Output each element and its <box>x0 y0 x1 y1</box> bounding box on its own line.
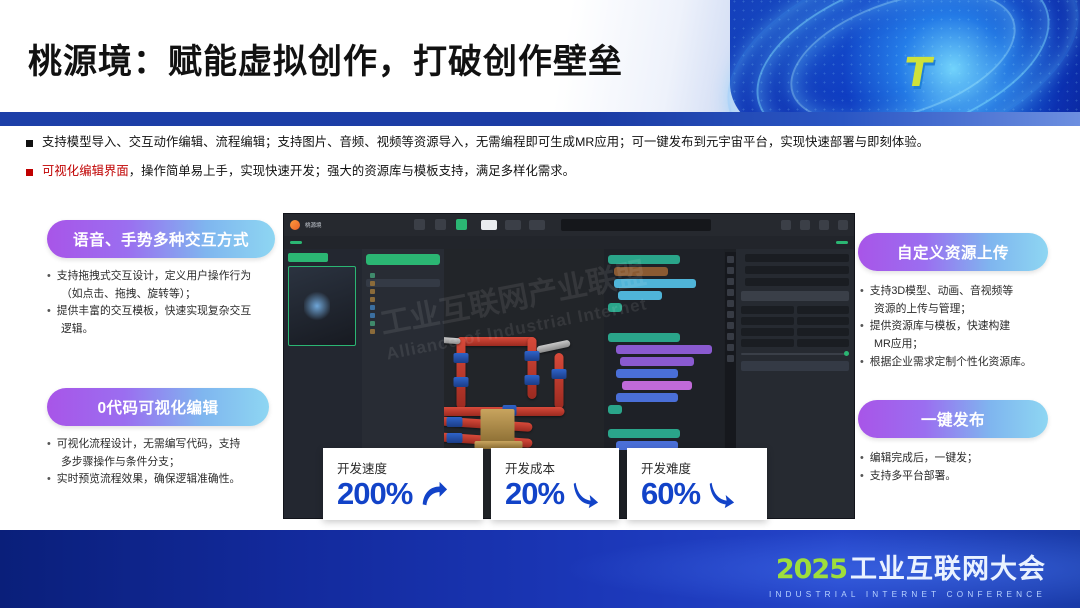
arrow-up-icon <box>418 479 448 509</box>
bullet-dot-icon: • <box>47 303 51 320</box>
prop-section-transform <box>741 291 849 301</box>
tree-node-item[interactable] <box>366 311 440 319</box>
scene-add-button[interactable] <box>288 253 328 262</box>
tree-node-item[interactable] <box>366 287 440 295</box>
feature-list-zero-code: • 可视化流程设计，无需编写代码，支持 多步骤操作与条件分支； • 实时预览流程… <box>47 436 285 489</box>
metric-label: 开发速度 <box>337 458 469 477</box>
script-block-event[interactable] <box>608 255 680 264</box>
tool-math-icon[interactable] <box>727 344 734 351</box>
feature-line: • 提供丰富的交互模板，快速实现复杂交互 <box>47 303 285 320</box>
tool-rotate-icon[interactable] <box>727 278 734 285</box>
script-block-event-2[interactable] <box>608 333 680 342</box>
feature-line: （如点击、拖拽、旋转等）； <box>47 286 285 303</box>
prop-grid-scale[interactable] <box>741 328 849 336</box>
prop-apply-button[interactable] <box>741 361 849 371</box>
pill-custom-resource-upload: 自定义资源上传 <box>858 233 1048 271</box>
feature-text: 实时预览流程效果，确保逻辑准确性。 <box>57 471 241 488</box>
refresh-icon[interactable] <box>505 220 521 230</box>
prop-rot-y[interactable] <box>797 317 850 325</box>
pipe-3d-model[interactable] <box>444 319 604 459</box>
script-block-value[interactable] <box>618 291 662 300</box>
feature-text: 资源的上传与管理； <box>874 301 971 318</box>
feature-line: • 可视化流程设计，无需编写代码，支持 <box>47 436 285 453</box>
bullet-text-1: 支持模型导入、交互动作编辑、流程编辑；支持图片、音频、视频等资源导入，无需编程即… <box>42 134 929 151</box>
tree-node-root[interactable] <box>366 271 440 279</box>
editor-window-controls <box>781 220 848 230</box>
tree-node-item[interactable] <box>366 303 440 311</box>
toolbar-settings-icon[interactable] <box>435 219 446 231</box>
prop-grid-rotation[interactable] <box>741 317 849 325</box>
feature-text: 可视化流程设计，无需编写代码，支持 <box>57 436 241 453</box>
prop-pos-x[interactable] <box>741 306 794 314</box>
bullet-text-2: 可视化编辑界面，操作简单易上手，实现快速开发；强大的资源库与模板支持，满足多样化… <box>42 163 575 180</box>
tool-event-icon[interactable] <box>727 311 734 318</box>
toolbar-flag-icon[interactable] <box>456 219 467 231</box>
metric-value-row: 200% <box>337 478 469 509</box>
pill-interaction-modes: 语音、手势多种交互方式 <box>47 220 275 258</box>
prop-row-name[interactable] <box>741 254 849 262</box>
feature-text: 逻辑。 <box>61 321 93 338</box>
conference-name-en: INDUSTRIAL INTERNET CONFERENCE <box>769 590 1046 599</box>
scene-thumbnail[interactable] <box>288 266 356 346</box>
bullet-item-2: 可视化编辑界面，操作简单易上手，实现快速开发；强大的资源库与模板支持，满足多样化… <box>26 163 1062 180</box>
page-title: 桃源境：赋能虚拟创作，打破创作壁垒 <box>28 34 623 83</box>
tree-node-selected[interactable] <box>366 279 440 287</box>
feature-list-resource: • 支持3D模型、动画、音视频等 资源的上传与管理； • 提供资源库与模板，快速… <box>860 283 1066 372</box>
metric-card-dev-cost: 开发成本 20% <box>491 448 619 520</box>
editor-subtoolbar <box>284 236 854 249</box>
header-accent-bar <box>0 112 1080 126</box>
feature-line: • 实时预览流程效果，确保逻辑准确性。 <box>47 471 285 488</box>
script-block-logic[interactable] <box>616 345 712 354</box>
bullet-highlight: 可视化编辑界面 <box>42 164 129 178</box>
script-block-logic-2[interactable] <box>620 357 694 366</box>
bullet-dot-icon: • <box>860 450 864 467</box>
play-button-icon[interactable] <box>481 220 497 230</box>
hierarchy-tree[interactable] <box>366 271 440 335</box>
tool-move-icon[interactable] <box>727 267 734 274</box>
feature-text: 多步骤操作与条件分支； <box>61 454 180 471</box>
tool-variable-icon[interactable] <box>727 322 734 329</box>
metric-label: 开发成本 <box>505 458 605 477</box>
bullet-item-1: 支持模型导入、交互动作编辑、流程编辑；支持图片、音频、视频等资源导入，无需编程即… <box>26 134 1062 151</box>
metric-value-row: 60% <box>641 478 753 509</box>
toolbar-undo-icon[interactable] <box>414 219 425 231</box>
prop-row-type[interactable] <box>741 266 849 274</box>
feature-line: • 提供资源库与模板，快速构建 <box>860 318 1066 335</box>
script-block-condition[interactable] <box>614 279 696 288</box>
tool-logic-icon[interactable] <box>727 333 734 340</box>
feature-text: 支持3D模型、动画、音视频等 <box>870 283 1013 300</box>
feature-line: • 根据企业需求定制个性化资源库。 <box>860 354 1066 371</box>
prop-grid-position[interactable] <box>741 306 849 314</box>
feature-line: 逻辑。 <box>47 321 285 338</box>
feature-text: 根据企业需求定制个性化资源库。 <box>870 354 1032 371</box>
bullet-dot-icon: • <box>47 268 51 285</box>
feature-line: 资源的上传与管理； <box>860 301 1066 318</box>
feature-text: （如点击、拖拽、旋转等）； <box>61 286 196 303</box>
square-bullet-icon <box>26 140 33 147</box>
subtoolbar-tag-left[interactable] <box>290 241 302 244</box>
tool-link-icon[interactable] <box>727 300 734 307</box>
close-icon[interactable] <box>838 220 848 230</box>
tree-node-audio[interactable] <box>366 319 440 327</box>
feature-line: • 支持多平台部署。 <box>860 468 1066 485</box>
prop-scale-x[interactable] <box>741 328 794 336</box>
bullet-list: 支持模型导入、交互动作编辑、流程编辑；支持图片、音频、视频等资源导入，无需编程即… <box>26 134 1062 191</box>
editor-playback-group <box>481 220 545 230</box>
metric-value: 200% <box>337 478 412 509</box>
feature-text: 支持拖拽式交互设计，定义用户操作行为 <box>57 268 251 285</box>
arrow-down-icon <box>570 479 600 509</box>
prop-extra-a[interactable] <box>741 339 794 347</box>
slide-header: T 桃源境：赋能虚拟创作，打破创作壁垒 <box>0 0 1080 112</box>
prop-opacity-slider[interactable] <box>741 353 849 355</box>
app-logo-icon <box>290 220 300 230</box>
tool-more-icon[interactable] <box>727 355 734 362</box>
script-block-action[interactable] <box>614 267 668 276</box>
prop-rot-x[interactable] <box>741 317 794 325</box>
feature-text: 提供丰富的交互模板，快速实现复杂交互 <box>57 303 251 320</box>
bullet-dot-icon: • <box>860 354 864 371</box>
help-icon[interactable] <box>781 220 791 230</box>
subtoolbar-tag-right[interactable] <box>836 241 848 244</box>
pill-one-click-publish: 一键发布 <box>858 400 1048 438</box>
feature-line: • 支持3D模型、动画、音视频等 <box>860 283 1066 300</box>
pill-zero-code-editing: 0代码可视化编辑 <box>47 388 269 426</box>
metric-card-row: 开发速度 200% 开发成本 20% 开发难度 60% <box>323 448 767 520</box>
metric-card-dev-speed: 开发速度 200% <box>323 448 483 520</box>
metric-value: 60% <box>641 478 700 509</box>
prop-scale-y[interactable] <box>797 328 850 336</box>
hierarchy-add-button[interactable] <box>366 254 440 265</box>
tree-node-light[interactable] <box>366 327 440 335</box>
editor-app-title: 桃源境 <box>305 221 322 229</box>
prop-row-group[interactable] <box>741 278 849 286</box>
feature-line: MR应用； <box>860 336 1066 353</box>
bullet-dot-icon: • <box>860 283 864 300</box>
user-icon[interactable] <box>800 220 810 230</box>
prop-grid-extra[interactable] <box>741 339 849 347</box>
script-block-end-2[interactable] <box>608 405 622 414</box>
feature-line: • 编辑完成后，一键发； <box>860 450 1066 467</box>
editor-titlebar: 桃源境 <box>284 214 854 236</box>
script-block-control[interactable] <box>616 369 678 378</box>
conference-logo: 2025 工业互联网大会 INDUSTRIAL INTERNET CONFERE… <box>769 547 1046 599</box>
bullet-dot-icon: • <box>860 468 864 485</box>
metric-card-dev-difficulty: 开发难度 60% <box>627 448 767 520</box>
arrow-down-icon <box>706 479 736 509</box>
tree-node-item[interactable] <box>366 295 440 303</box>
metric-label: 开发难度 <box>641 458 753 477</box>
bullet-rest: ，操作简单易上手，实现快速开发；强大的资源库与模板支持，满足多样化需求。 <box>129 164 575 178</box>
feature-text: 提供资源库与模板，快速构建 <box>870 318 1010 335</box>
prop-extra-b[interactable] <box>797 339 850 347</box>
script-block-param[interactable] <box>622 381 692 390</box>
script-block-control-2[interactable] <box>616 393 678 402</box>
tool-cursor-icon[interactable] <box>727 256 734 263</box>
feature-line: • 支持拖拽式交互设计，定义用户操作行为 <box>47 268 285 285</box>
feature-list-interaction: • 支持拖拽式交互设计，定义用户操作行为 （如点击、拖拽、旋转等）； • 提供丰… <box>47 268 285 339</box>
bullet-dot-icon: • <box>860 318 864 335</box>
conference-year: 2025 <box>776 554 847 585</box>
script-block-end[interactable] <box>608 303 622 312</box>
editor-toolbar-group <box>414 219 467 231</box>
metric-value-row: 20% <box>505 478 605 509</box>
bullet-dot-icon: • <box>47 436 51 453</box>
feature-text: 编辑完成后，一键发； <box>870 450 978 467</box>
feature-list-publish: • 编辑完成后，一键发； • 支持多平台部署。 <box>860 450 1066 485</box>
conference-logo-main: 2025 工业互联网大会 <box>776 547 1046 586</box>
minimize-icon[interactable] <box>819 220 829 230</box>
tool-scale-icon[interactable] <box>727 289 734 296</box>
bullet-dot-icon: • <box>47 471 51 488</box>
editor-search-input[interactable] <box>561 219 711 231</box>
square-bullet-red-icon <box>26 169 33 176</box>
feature-text: 支持多平台部署。 <box>870 468 956 485</box>
prop-pos-y[interactable] <box>797 306 850 314</box>
feature-text: MR应用； <box>874 336 923 353</box>
header-tech-graphic: T <box>730 0 1080 112</box>
conference-name-cn: 工业互联网大会 <box>850 547 1046 586</box>
feature-line: 多步骤操作与条件分支； <box>47 454 285 471</box>
grid-icon[interactable] <box>529 220 545 230</box>
script-block-event-3[interactable] <box>608 429 680 438</box>
slide-footer: 2025 工业互联网大会 INDUSTRIAL INTERNET CONFERE… <box>0 530 1080 608</box>
metric-value: 20% <box>505 478 564 509</box>
